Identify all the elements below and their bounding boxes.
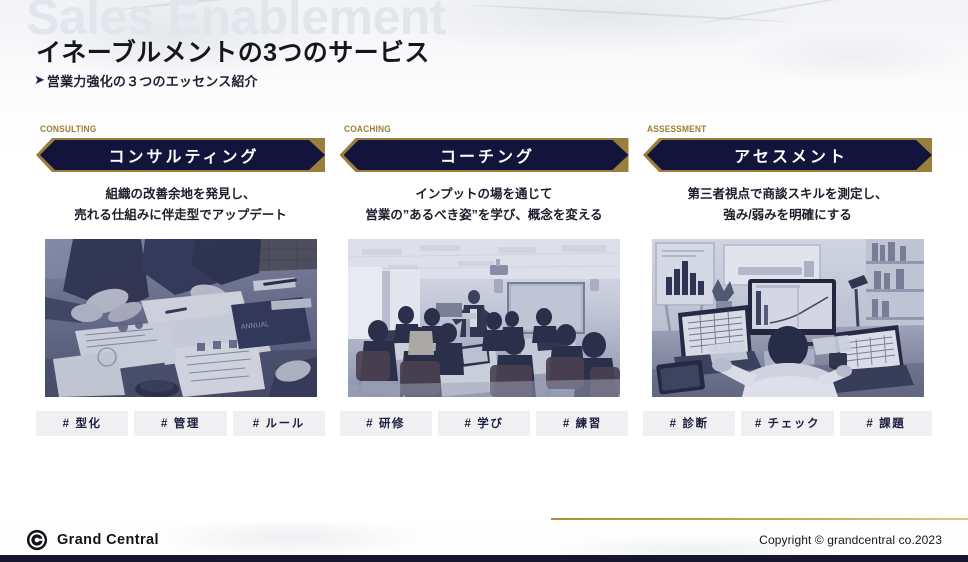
subtitle-row: ➤ 営業力強化の３つのエッセンス紹介: [34, 71, 258, 90]
service-column-coaching: COACHING コーチング インプットの場を通じて 営業の”あるべき姿”を学び…: [340, 124, 629, 436]
column-description: 第三者視点で商談スキルを測定し、 強み/弱みを明確にする: [643, 184, 932, 225]
description-line: インプットの場を通じて: [340, 184, 629, 205]
chevron-banner: コンサルティング: [36, 138, 325, 172]
description-line: 第三者視点で商談スキルを測定し、: [643, 184, 932, 205]
page-subtitle: 営業力強化の３つのエッセンス紹介: [47, 71, 258, 90]
description-line: 組織の改善余地を発見し、: [36, 184, 325, 205]
tag-chip[interactable]: # 診断: [643, 411, 735, 436]
marble-vein: [470, 4, 790, 23]
analyst-multi-monitor-desk-photo: [652, 239, 924, 397]
column-eyebrow: ASSESSMENT: [647, 124, 898, 136]
chevron-banner: コーチング: [340, 138, 629, 172]
footer-bottom-bar: [0, 555, 968, 562]
slide-root: Sales Enablement イネーブルメントの3つのサービス ➤ 営業力強…: [0, 0, 968, 562]
chevron-navy-layer: コンサルティング: [40, 140, 325, 170]
description-line: 売れる仕組みに伴走型でアップデート: [36, 205, 325, 226]
description-line: 営業の”あるべき姿”を学び、概念を変える: [340, 205, 629, 226]
chevron-navy-layer: アセスメント: [647, 140, 932, 170]
brand-name: Grand Central: [57, 532, 159, 548]
column-photo-assessment: [652, 239, 924, 397]
tag-chip[interactable]: # 練習: [536, 411, 628, 436]
grand-central-logo-icon: [26, 529, 48, 551]
marble-vein: [700, 0, 878, 24]
footer-gold-divider: [551, 518, 968, 520]
tag-chip[interactable]: # 学び: [438, 411, 530, 436]
tag-list: # 研修 # 学び # 練習: [340, 411, 629, 436]
tag-chip[interactable]: # 型化: [36, 411, 128, 436]
service-columns: CONSULTING コンサルティング 組織の改善余地を発見し、 売れる仕組みに…: [0, 124, 968, 436]
tag-list: # 診断 # チェック # 課題: [643, 411, 932, 436]
tag-chip[interactable]: # チェック: [741, 411, 833, 436]
tag-chip[interactable]: # 研修: [340, 411, 432, 436]
tag-chip[interactable]: # 課題: [840, 411, 932, 436]
column-photo-coaching: [348, 239, 620, 397]
description-line: 強み/弱みを明確にする: [643, 205, 932, 226]
brand-logo[interactable]: Grand Central: [26, 529, 159, 551]
chevron-navy-layer: コーチング: [344, 140, 629, 170]
seminar-training-room-photo: [348, 239, 620, 397]
footer: Grand Central Copyright © grandcentral c…: [0, 522, 968, 562]
column-description: インプットの場を通じて 営業の”あるべき姿”を学び、概念を変える: [340, 184, 629, 225]
copyright-text: Copyright © grandcentral co.2023: [759, 533, 942, 547]
column-description: 組織の改善余地を発見し、 売れる仕組みに伴走型でアップデート: [36, 184, 325, 225]
page-title: イネーブルメントの3つのサービス: [36, 33, 430, 69]
chevron-banner: アセスメント: [643, 138, 932, 172]
business-meeting-documents-photo: ANNUAL: [45, 239, 317, 397]
tag-chip[interactable]: # 管理: [134, 411, 226, 436]
column-photo-consulting: ANNUAL: [45, 239, 317, 397]
tag-list: # 型化 # 管理 # ルール: [36, 411, 325, 436]
arrow-right-icon: ➤: [34, 73, 45, 86]
banner-label: コーチング: [437, 143, 535, 167]
column-eyebrow: COACHING: [344, 124, 595, 136]
service-column-assessment: ASSESSMENT アセスメント 第三者視点で商談スキルを測定し、 強み/弱み…: [643, 124, 932, 436]
banner-label: コンサルティング: [105, 143, 259, 167]
tag-chip[interactable]: # ルール: [233, 411, 325, 436]
banner-label: アセスメント: [731, 143, 848, 167]
column-eyebrow: CONSULTING: [40, 124, 291, 136]
service-column-consulting: CONSULTING コンサルティング 組織の改善余地を発見し、 売れる仕組みに…: [36, 124, 325, 436]
